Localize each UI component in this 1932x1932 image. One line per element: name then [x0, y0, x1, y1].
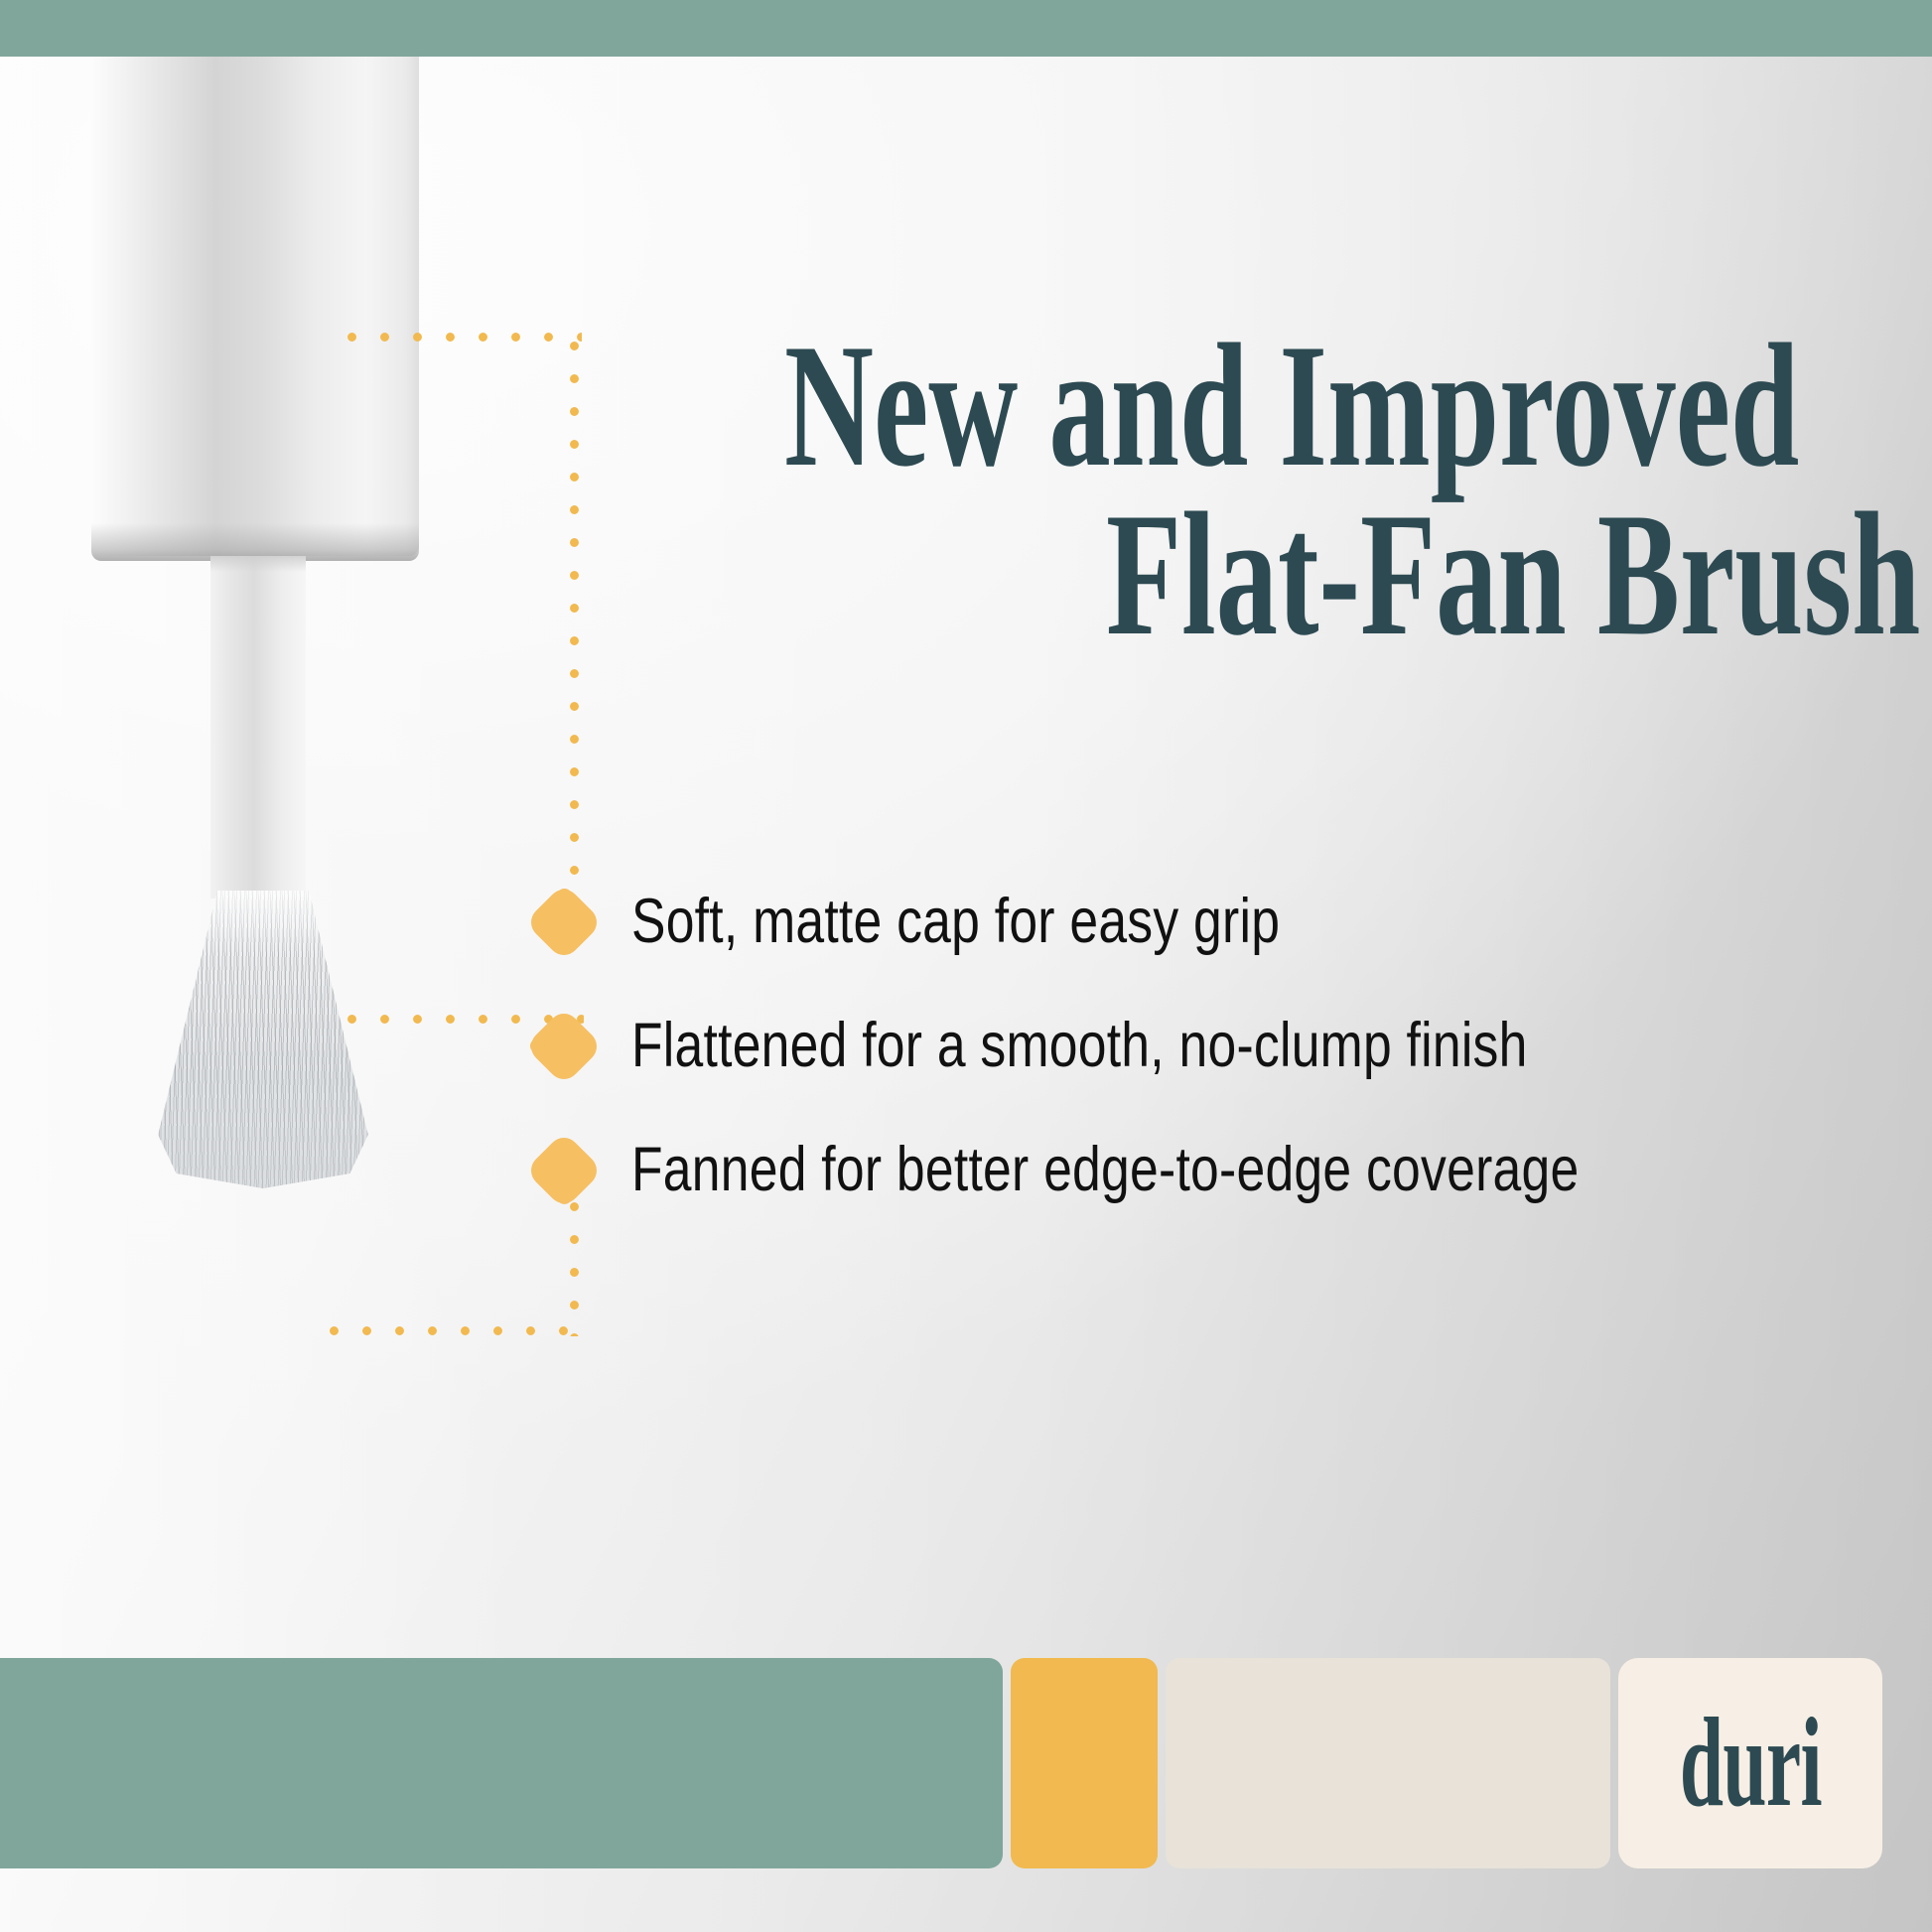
headline-line-2: Flat-Fan Brush	[1106, 484, 1857, 665]
brush-bristles-highlight	[149, 891, 377, 1188]
feature-item-2: Flattened for a smooth, no-clump finish	[536, 984, 1926, 1108]
feature-item-1: Soft, matte cap for easy grip	[536, 860, 1926, 984]
diamond-bullet-icon	[536, 1019, 592, 1074]
product-feature-poster: New and Improved Flat-Fan Brush Soft, ma…	[0, 0, 1932, 1932]
feature-list: Soft, matte cap for easy grip Flattened …	[536, 860, 1926, 1232]
top-accent-bar	[0, 0, 1932, 57]
feature-label-3: Fanned for better edge-to-edge coverage	[631, 1136, 1579, 1204]
brand-logo-text: duri	[1679, 1710, 1821, 1817]
feature-label-2: Flattened for a smooth, no-clump finish	[631, 1012, 1528, 1080]
page-title: New and Improved Flat-Fan Brush	[784, 316, 1857, 664]
brand-logo-block: duri	[1618, 1658, 1882, 1868]
diamond-bullet-icon	[536, 1143, 592, 1198]
feature-item-3: Fanned for better edge-to-edge coverage	[536, 1108, 1926, 1232]
connector-dots-cap-vertical	[567, 330, 582, 886]
brush-cap	[91, 57, 419, 556]
footer-segment-sage	[0, 1658, 1003, 1868]
connector-dots-cap-horizontal	[336, 330, 582, 345]
feature-label-1: Soft, matte cap for easy grip	[631, 888, 1280, 956]
connector-dots-bristles-horizontal	[318, 1323, 584, 1338]
product-image	[0, 57, 556, 1228]
brush-ferrule-edge	[210, 556, 306, 572]
diamond-bullet-icon	[536, 895, 592, 950]
footer-color-bar: duri	[0, 1658, 1932, 1868]
footer-segment-beige	[1166, 1658, 1610, 1868]
brush-ferrule	[210, 556, 306, 898]
footer-segment-gold	[1011, 1658, 1158, 1868]
headline-line-1: New and Improved	[784, 316, 1535, 496]
